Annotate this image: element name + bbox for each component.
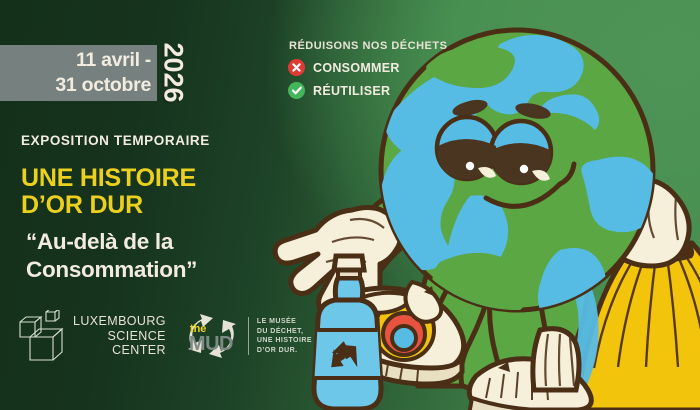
mud-tagline: LE MUSÉE DU DÉCHET, UNE HISTOIRE D’OR DU… <box>248 317 312 355</box>
mud-tagline-1: LE MUSÉE <box>257 317 312 327</box>
title-line-1: UNE HISTOIRE <box>21 165 196 192</box>
mud-tagline-4: D’OR DUR. <box>257 346 312 356</box>
page-title: UNE HISTOIRE D’OR DUR <box>21 165 196 219</box>
mud-tagline-3: UNE HISTOIRE <box>257 336 312 346</box>
poster-root: 11 avril - 31 octobre 2026 EXPOSITION TE… <box>0 0 700 410</box>
check-circle-icon <box>288 82 305 99</box>
year-label: 2026 <box>156 30 190 114</box>
waste-item-label: RÉUTILISER <box>313 84 390 98</box>
subtitle-line-1: “Au-delà de la <box>26 228 197 256</box>
luxembourg-science-center-logo[interactable]: LUXEMBOURG SCIENCE CENTER <box>16 310 166 362</box>
waste-list: RÉDUISONS NOS DÉCHETS CONSOMMER RÉUTILIS… <box>288 40 447 105</box>
date-badge: 11 avril - 31 octobre <box>0 45 157 101</box>
date-line-2: 31 octobre <box>55 73 151 98</box>
waste-item-label: CONSOMMER <box>313 61 400 75</box>
lsc-line-1: LUXEMBOURG <box>73 314 166 329</box>
exhibition-kicker: EXPOSITION TEMPORAIRE <box>21 133 210 148</box>
page-subtitle: “Au-delà de la Consommation” <box>26 228 197 284</box>
cube-icon <box>16 310 68 362</box>
the-mud-logo[interactable]: the MUD LE MUSÉE DU DÉCHET, UNE HISTOIRE… <box>183 313 312 359</box>
mud-wordmark: the MUD <box>189 324 239 354</box>
logo-row: LUXEMBOURG SCIENCE CENTER the MUD <box>16 310 312 362</box>
recycle-arrows-icon: the MUD <box>183 313 241 359</box>
science-center-wordmark: LUXEMBOURG SCIENCE CENTER <box>73 314 166 358</box>
waste-list-item-consommer: CONSOMMER <box>288 59 447 76</box>
waste-list-heading: RÉDUISONS NOS DÉCHETS <box>289 40 447 52</box>
waste-list-item-reutiliser: RÉUTILISER <box>288 82 447 99</box>
mud-name: MUD <box>189 334 239 354</box>
year-text: 2026 <box>158 42 189 102</box>
lsc-line-3: CENTER <box>112 343 166 358</box>
subtitle-line-2: Consommation” <box>26 256 197 284</box>
mud-tagline-2: DU DÉCHET, <box>257 327 312 337</box>
title-line-2: D’OR DUR <box>21 192 196 219</box>
date-line-1: 11 avril - <box>76 48 151 73</box>
cross-circle-icon <box>288 59 305 76</box>
lsc-line-2: SCIENCE <box>108 329 166 344</box>
